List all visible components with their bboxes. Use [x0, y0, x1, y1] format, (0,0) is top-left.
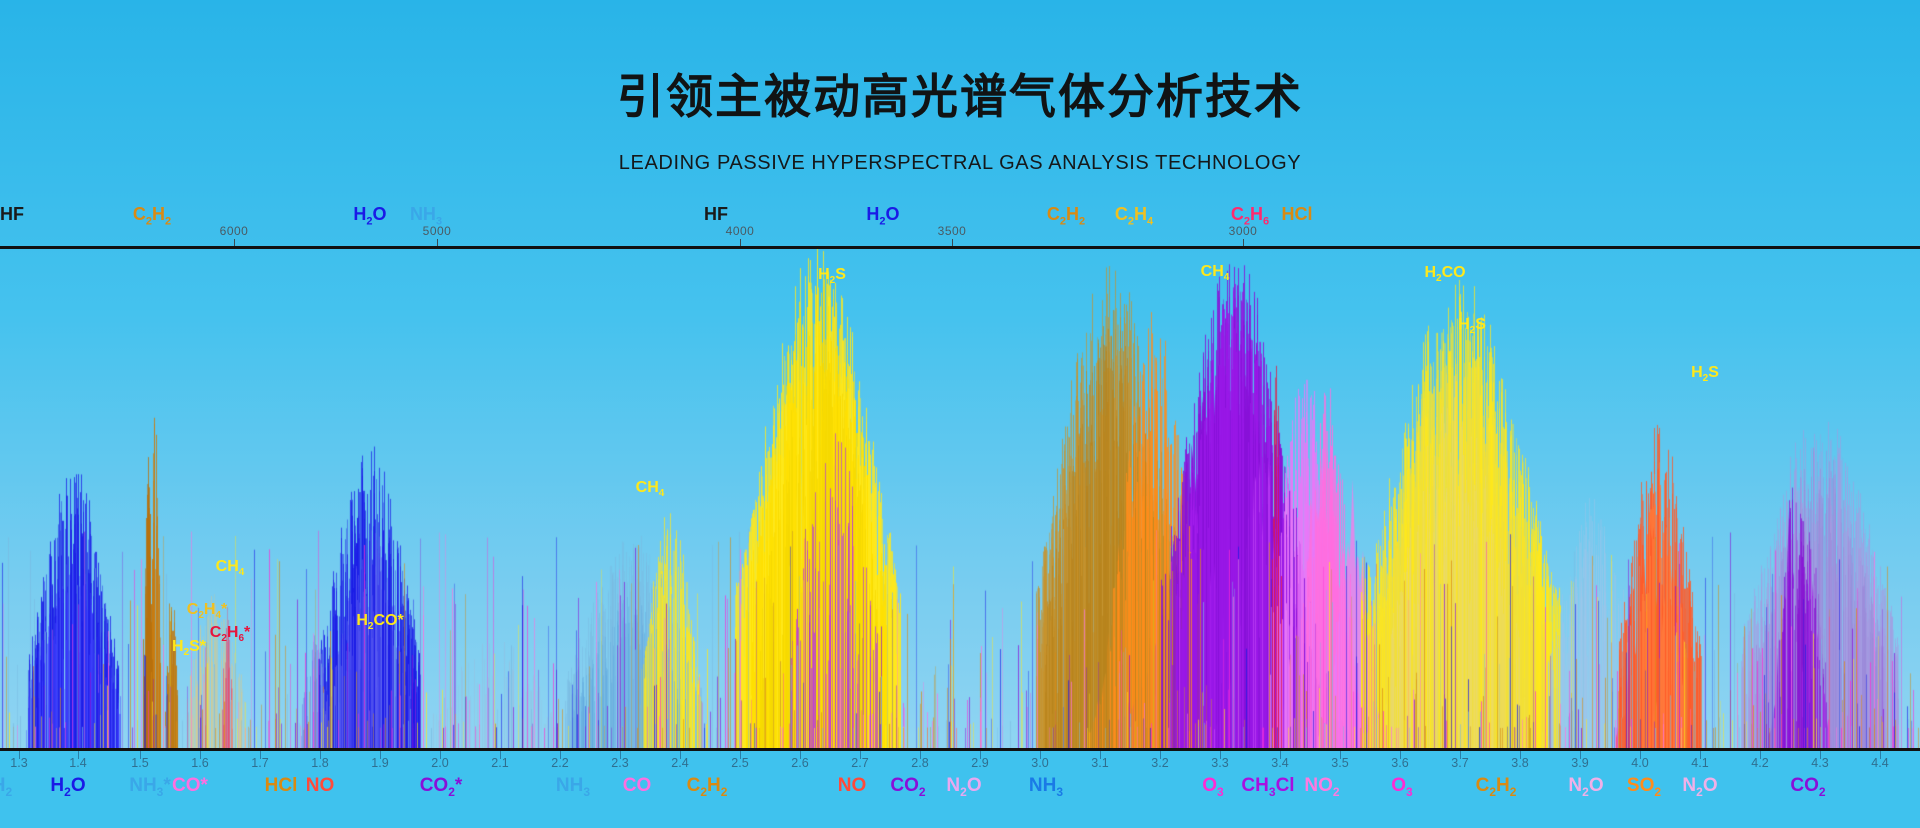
- bottom-gas-label: SO2: [1627, 775, 1661, 799]
- bottom-tick-label: 4.4: [1871, 756, 1888, 770]
- top-gas-label: H2O: [353, 204, 386, 228]
- bottom-tick-label: 3.1: [1091, 756, 1108, 770]
- spectrum-annotation: H2CO: [1424, 264, 1465, 284]
- bottom-gas-label: CH3Cl: [1241, 775, 1294, 799]
- bottom-gas-label: H2O: [50, 775, 85, 799]
- spectrum-annotation: CH4: [1201, 263, 1230, 283]
- bottom-gas-label: CO2*: [420, 775, 463, 799]
- spectrum-annotation: C2H6*: [210, 624, 250, 644]
- spectra-canvas: [0, 248, 1920, 748]
- header: 引领主被动高光谱气体分析技术 LEADING PASSIVE HYPERSPEC…: [0, 0, 1920, 200]
- bottom-tick-label: 2.1: [491, 756, 508, 770]
- bottom-gas-label: N2O: [1568, 775, 1603, 799]
- bottom-gas-label: CO2: [890, 775, 925, 799]
- spectrum-annotation: H2CO*: [356, 612, 403, 632]
- bottom-tick-label: 3.5: [1331, 756, 1348, 770]
- axis-top-line: [0, 246, 1920, 249]
- top-gas-label: HCl: [1282, 204, 1313, 225]
- top-tick-label: 4000: [726, 224, 755, 238]
- bottom-tick-label: 4.3: [1811, 756, 1828, 770]
- top-gas-label: H2O: [866, 204, 899, 228]
- bottom-tick-label: 1.9: [371, 756, 388, 770]
- spectrum-annotation: H2S*: [172, 638, 206, 658]
- bottom-tick-label: 1.6: [191, 756, 208, 770]
- bottom-tick-label: 3.9: [1571, 756, 1588, 770]
- bottom-tick-label: 2.5: [731, 756, 748, 770]
- top-gas-label: C2H2: [1047, 204, 1085, 228]
- top-tick-label: 3500: [938, 224, 967, 238]
- bottom-tick-label: 2.0: [431, 756, 448, 770]
- bottom-gas-label: N2O: [946, 775, 981, 799]
- bottom-gas-label: NO: [838, 775, 867, 797]
- bottom-tick-label: 3.8: [1511, 756, 1528, 770]
- page-subtitle: LEADING PASSIVE HYPERSPECTRAL GAS ANALYS…: [0, 152, 1920, 175]
- bottom-tick-label: 2.6: [791, 756, 808, 770]
- bottom-gas-label: NH3: [556, 775, 590, 799]
- bottom-tick-label: 3.2: [1151, 756, 1168, 770]
- bottom-gas-label: CO2: [1790, 775, 1825, 799]
- bottom-tick-label: 3.0: [1031, 756, 1048, 770]
- bottom-gas-label: O3: [1202, 775, 1223, 799]
- bottom-tick-label: 4.0: [1631, 756, 1648, 770]
- bottom-gas-label: CO: [623, 775, 652, 797]
- bottom-tick-label: 2.9: [971, 756, 988, 770]
- bottom-tick-label: 3.7: [1451, 756, 1468, 770]
- bottom-gas-label: NH3: [1029, 775, 1063, 799]
- spectrum-annotation: H2S: [1458, 316, 1486, 336]
- top-gas-label: C2H2: [133, 204, 171, 228]
- spectrum-annotation: H2S: [1691, 364, 1719, 384]
- top-tick-label: 6000: [220, 224, 249, 238]
- bottom-gas-label: NO2: [1304, 775, 1339, 799]
- bottom-tick-label: 2.7: [851, 756, 868, 770]
- bottom-tick-label: 2.2: [551, 756, 568, 770]
- top-gas-label: C2H6: [1231, 204, 1269, 228]
- bottom-gas-label: CO*: [172, 775, 208, 797]
- bottom-tick-label: 2.3: [611, 756, 628, 770]
- bottom-tick-label: 1.3: [10, 756, 27, 770]
- bottom-tick-label: 3.6: [1391, 756, 1408, 770]
- bottom-tick-label: 4.1: [1691, 756, 1708, 770]
- bottom-tick-label: 2.8: [911, 756, 928, 770]
- top-gas-label: NH3: [410, 204, 442, 228]
- bottom-tick-label: 1.4: [69, 756, 86, 770]
- top-gas-label: HF: [704, 204, 728, 225]
- bottom-tick-label: 2.4: [671, 756, 688, 770]
- bottom-gas-label: C2H2: [1476, 775, 1517, 799]
- bottom-gas-label: O3: [1391, 775, 1412, 799]
- bottom-gas-label: HCl: [265, 775, 298, 797]
- spectrum-annotation: C2H4*: [187, 601, 227, 621]
- bottom-tick-label: 1.8: [311, 756, 328, 770]
- spectrum-annotation: CH4: [216, 558, 245, 578]
- bottom-tick-label: 4.2: [1751, 756, 1768, 770]
- top-gas-label: C2H4: [1115, 204, 1153, 228]
- bottom-gas-label: H2: [0, 775, 12, 799]
- bottom-gas-label: C2H2: [687, 775, 728, 799]
- axis-bottom-line: [0, 748, 1920, 751]
- bottom-gas-label: NO: [306, 775, 335, 797]
- page-title: 引领主被动高光谱气体分析技术: [0, 58, 1920, 127]
- bottom-tick-label: 1.7: [251, 756, 268, 770]
- poster-root: 引领主被动高光谱气体分析技术 LEADING PASSIVE HYPERSPEC…: [0, 0, 1920, 828]
- spectrum-annotation: CH4: [636, 479, 665, 499]
- bottom-tick-label: 3.3: [1211, 756, 1228, 770]
- bottom-gas-label: NH3*: [129, 775, 171, 799]
- spectra-plot: [0, 248, 1920, 748]
- bottom-tick-label: 3.4: [1271, 756, 1288, 770]
- bottom-tick-label: 1.5: [131, 756, 148, 770]
- top-gas-label: HF: [0, 204, 24, 225]
- bottom-gas-label: N2O: [1682, 775, 1717, 799]
- spectrum-annotation: H2S: [818, 266, 846, 286]
